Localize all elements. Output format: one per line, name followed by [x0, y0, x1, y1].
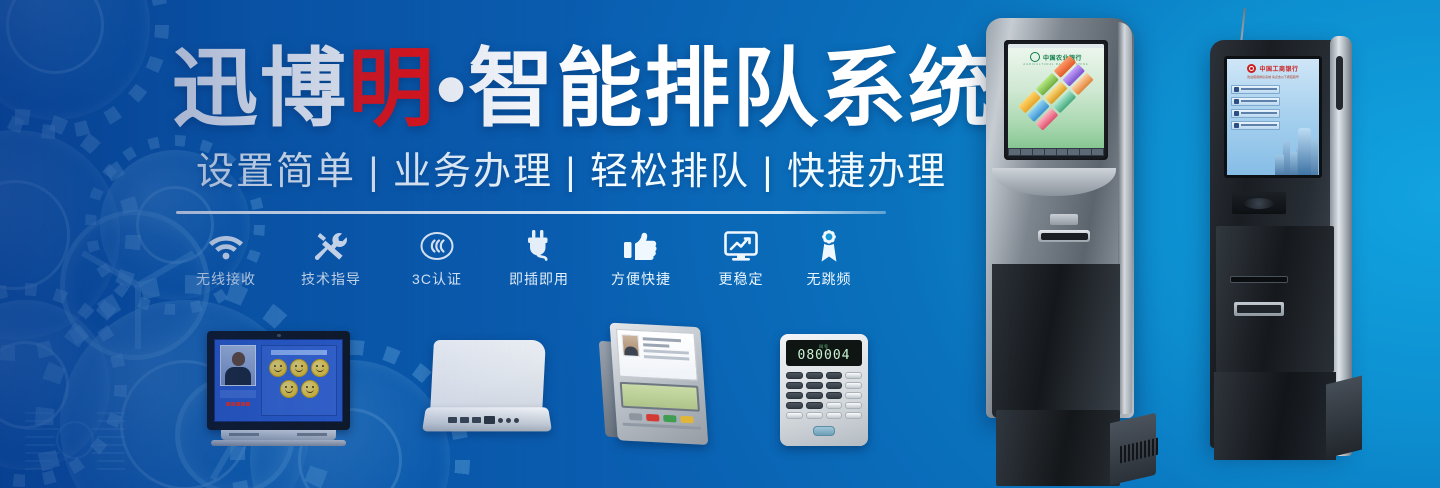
- screen-profile-panel: [220, 345, 256, 416]
- kiosk-icbc: 中国工商银行 欢迎使用排队系统 请点击以下按钮取号: [1206, 14, 1362, 470]
- emoji-face-group: [265, 359, 333, 398]
- keypad-key[interactable]: [806, 402, 823, 409]
- promotional-banner: 迅博明•智能排队系统 设置简单 | 业务办理 | 轻松排队 | 快捷办理 无线接…: [0, 0, 1440, 488]
- feature-item-wireless: 无线接收: [176, 226, 276, 289]
- card-reader-sensor-icon: [1244, 198, 1274, 209]
- feature-label: 技术指导: [281, 269, 381, 289]
- router-panel: [430, 340, 546, 414]
- kiosk-side-edge: [1118, 22, 1132, 414]
- kiosk-screen-bezel: 中国工商银行 欢迎使用排队系统 请点击以下按钮取号: [1224, 56, 1322, 178]
- kiosk-touchscreen[interactable]: 中国工商银行 欢迎使用排队系统 请点击以下按钮取号: [1227, 59, 1319, 175]
- kiosk-abc: 中国农业银行 AGRICULTURAL BANK OF CHINA: [978, 18, 1150, 470]
- keypad-key[interactable]: [845, 412, 862, 419]
- evaluator-button-green[interactable]: [663, 415, 677, 423]
- product-desktop-evaluator: [596, 321, 716, 449]
- thumbs-up-icon: [591, 226, 691, 266]
- vent-grille: [229, 433, 259, 436]
- staff-info-lines: [642, 335, 692, 375]
- ticket-dispenser-slot: [1038, 230, 1090, 242]
- kiosk-brand-plate: [1234, 302, 1284, 316]
- award-ribbon-icon: [779, 226, 879, 266]
- screen-rating-panel: [261, 345, 337, 416]
- feature-item-stable: 更稳定: [691, 226, 791, 289]
- port-usb: [448, 417, 457, 423]
- skyscraper-graphic: [1298, 128, 1311, 175]
- keypad-key[interactable]: [786, 402, 803, 409]
- keypad-key[interactable]: [826, 412, 843, 419]
- evaluator-lcd-display: [620, 382, 700, 412]
- keypad-key[interactable]: [806, 412, 823, 419]
- keypad-key[interactable]: [786, 372, 803, 379]
- power-plug-icon: [489, 226, 589, 266]
- feature-label: 无跳频: [779, 269, 879, 289]
- feature-item-no-frequency-hopping: 无跳频: [779, 226, 879, 289]
- menu-item[interactable]: [1231, 97, 1280, 106]
- circuit-pattern-icon: [20, 395, 130, 485]
- keypad-key[interactable]: [845, 392, 862, 399]
- info-line: [643, 337, 681, 342]
- kiosk-edge-slot: [1336, 56, 1343, 110]
- keypad-key[interactable]: [826, 402, 843, 409]
- card-reader[interactable]: [1232, 192, 1286, 214]
- kiosk-screen-bezel: 中国农业银行 AGRICULTURAL BANK OF CHINA: [1004, 40, 1108, 160]
- keypad-lcd-display: 叫号 080004: [786, 340, 862, 366]
- ccc-certification-icon: [387, 226, 487, 266]
- evaluator-label-strip: [623, 423, 702, 430]
- feature-label: 即插即用: [489, 269, 589, 289]
- menu-item[interactable]: [1231, 85, 1280, 94]
- title-part-1: 迅博: [172, 41, 348, 137]
- keypad-key[interactable]: [786, 392, 803, 399]
- keypad-key[interactable]: [806, 382, 823, 389]
- product-router-box: [424, 340, 550, 440]
- keypad-key[interactable]: [786, 412, 803, 419]
- bank-name-english: AGRICULTURAL BANK OF CHINA: [1012, 63, 1100, 66]
- kiosk-base-side: [1326, 376, 1362, 459]
- menu-item[interactable]: [1231, 109, 1280, 118]
- port-round: [498, 418, 503, 423]
- kiosk-base: [996, 410, 1120, 486]
- kiosk-base: [1214, 372, 1336, 460]
- icbc-logo-mark-icon: [1247, 64, 1256, 73]
- info-line: [643, 349, 688, 354]
- evaluator-body: [610, 323, 709, 445]
- feature-list: 无线接收 技术指导: [176, 226, 888, 290]
- monitor-base: [211, 440, 346, 446]
- service-tile-grid[interactable]: [1018, 55, 1093, 130]
- vent-grille: [297, 433, 327, 436]
- port-power: [514, 418, 519, 423]
- smiley-face-icon: [290, 359, 308, 377]
- feature-item-tech-support: 技术指导: [281, 226, 381, 289]
- page-title: 迅博明•智能排队系统: [172, 42, 996, 136]
- evaluator-button-yellow[interactable]: [680, 416, 694, 424]
- rating-stars: [220, 402, 256, 406]
- ticket-dispenser-slot: [1230, 276, 1288, 283]
- port-usb: [472, 417, 481, 423]
- keypad-key[interactable]: [786, 382, 803, 389]
- bank-name: 中国工商银行: [1259, 64, 1298, 73]
- screen-notice: 欢迎使用排队系统 请点击以下按钮取号: [1231, 75, 1315, 80]
- keypad-enter-button[interactable]: [813, 426, 835, 436]
- feature-item-plug-and-play: 即插即用: [489, 226, 589, 289]
- rating-question-bar: [271, 350, 327, 355]
- router-port-row: [448, 416, 519, 424]
- service-menu-list[interactable]: [1231, 85, 1280, 130]
- camera-dot-icon: [277, 334, 281, 337]
- staff-id-card: [616, 329, 698, 381]
- screen-bottom-bar: [1008, 148, 1104, 156]
- bank-logo: 中国工商银行: [1231, 64, 1315, 73]
- port-round: [506, 418, 511, 423]
- monitor-bezel: [207, 331, 350, 430]
- feature-item-3c-certified: 3C认证: [387, 226, 487, 289]
- abc-logo-mark-icon: [1030, 52, 1040, 62]
- antenna-icon: [1240, 8, 1246, 42]
- keypad-key[interactable]: [845, 372, 862, 379]
- feature-label: 方便快捷: [591, 269, 691, 289]
- evaluator-button-red[interactable]: [646, 414, 660, 422]
- kiosk-touchscreen[interactable]: 中国农业银行 AGRICULTURAL BANK OF CHINA: [1008, 44, 1104, 156]
- product-number-keypad: 叫号 080004: [780, 334, 868, 446]
- bank-logo: 中国农业银行: [1012, 52, 1100, 62]
- smiley-face-icon: [280, 380, 298, 398]
- kiosk-brand-plate: [1050, 214, 1078, 225]
- keypad-key[interactable]: [806, 392, 823, 399]
- keypad-key[interactable]: [845, 402, 862, 409]
- keypad-key[interactable]: [826, 382, 843, 389]
- evaluator-button[interactable]: [629, 413, 643, 421]
- bank-name: 中国农业银行: [1043, 53, 1082, 62]
- divider: [176, 211, 886, 214]
- menu-item[interactable]: [1231, 121, 1280, 130]
- smiley-face-icon: [269, 359, 287, 377]
- feature-label: 更稳定: [691, 269, 791, 289]
- monitor-screen: [214, 339, 343, 422]
- title-separator-dot: •: [436, 41, 468, 137]
- smiley-face-icon: [301, 380, 319, 398]
- info-line: [643, 343, 669, 347]
- keypad-key[interactable]: [826, 372, 843, 379]
- keypad-key[interactable]: [845, 382, 862, 389]
- monitor-stand: [221, 430, 336, 440]
- wifi-icon: [176, 226, 276, 266]
- smiley-face-icon: [311, 359, 329, 377]
- feature-label: 无线接收: [176, 269, 276, 289]
- tools-icon: [281, 226, 381, 266]
- feature-item-convenient: 方便快捷: [591, 226, 691, 289]
- port-usb: [460, 417, 469, 423]
- port-ethernet: [484, 416, 495, 424]
- keypad-key[interactable]: [806, 372, 823, 379]
- kiosk-lower-panel: [992, 264, 1120, 418]
- avatar: [621, 334, 640, 357]
- feature-label: 3C认证: [387, 269, 487, 289]
- screen-titlebar: [1008, 44, 1104, 48]
- evaluator-button-row[interactable]: [622, 413, 701, 424]
- profile-name-bar: [220, 390, 256, 398]
- title-part-2: 智能排队系统: [468, 41, 996, 137]
- page-subtitle: 设置简单 | 业务办理 | 轻松排队 | 快捷办理: [196, 148, 947, 196]
- gear-icon: [0, 0, 150, 120]
- avatar: [220, 345, 256, 386]
- title-part-highlight: 明: [348, 41, 436, 137]
- product-evaluator-monitor: [207, 331, 350, 447]
- keypad-button-grid[interactable]: [786, 372, 862, 419]
- keypad-display-number: 080004: [798, 349, 851, 363]
- keypad-key[interactable]: [826, 392, 843, 399]
- kiosk-lower-panel: [1216, 226, 1334, 372]
- monitor-chart-icon: [691, 226, 791, 266]
- info-line: [644, 355, 689, 360]
